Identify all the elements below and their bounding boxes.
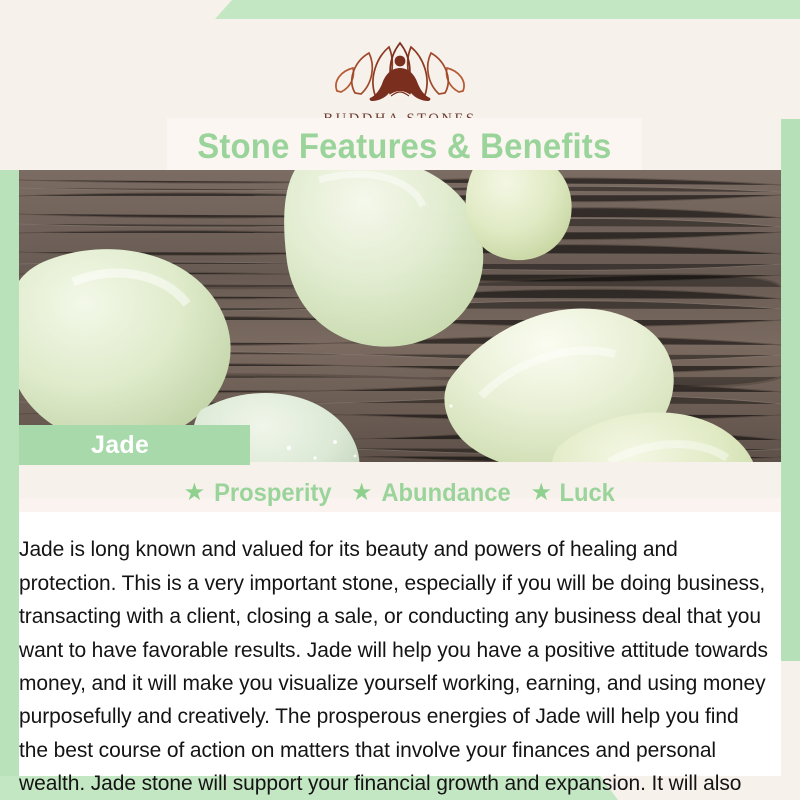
description-block: Jade is long known and valued for its be… — [19, 512, 781, 776]
star-icon: ★ — [530, 481, 552, 505]
description-text: Jade is long known and valued for its be… — [19, 533, 770, 800]
stone-photo — [19, 170, 781, 462]
stone-name: Jade — [91, 431, 149, 460]
benefit-item: ★ Luck — [530, 479, 616, 508]
benefit-label: Luck — [559, 479, 614, 508]
stone-name-banner: Jade — [19, 425, 250, 465]
star-icon: ★ — [351, 481, 373, 505]
title-banner: Stone Features & Benefits — [167, 118, 642, 175]
benefit-label: Prosperity — [214, 479, 331, 508]
decorative-left-green-strip — [0, 170, 19, 776]
page-title: Stone Features & Benefits — [197, 127, 611, 167]
stone-info-poster: BUDDHA STONES Stone Features & Benefits — [0, 0, 800, 800]
benefit-item: ★ Abundance — [351, 479, 515, 508]
poster-header: BUDDHA STONES — [0, 19, 800, 119]
benefit-item: ★ Prosperity — [184, 479, 335, 508]
lotus-meditation-icon — [300, 41, 500, 109]
benefits-row: ★ Prosperity ★ Abundance ★ Luck — [19, 476, 781, 510]
star-icon: ★ — [184, 481, 206, 505]
benefit-label: Abundance — [382, 479, 511, 508]
decorative-top-green-band — [215, 0, 800, 19]
